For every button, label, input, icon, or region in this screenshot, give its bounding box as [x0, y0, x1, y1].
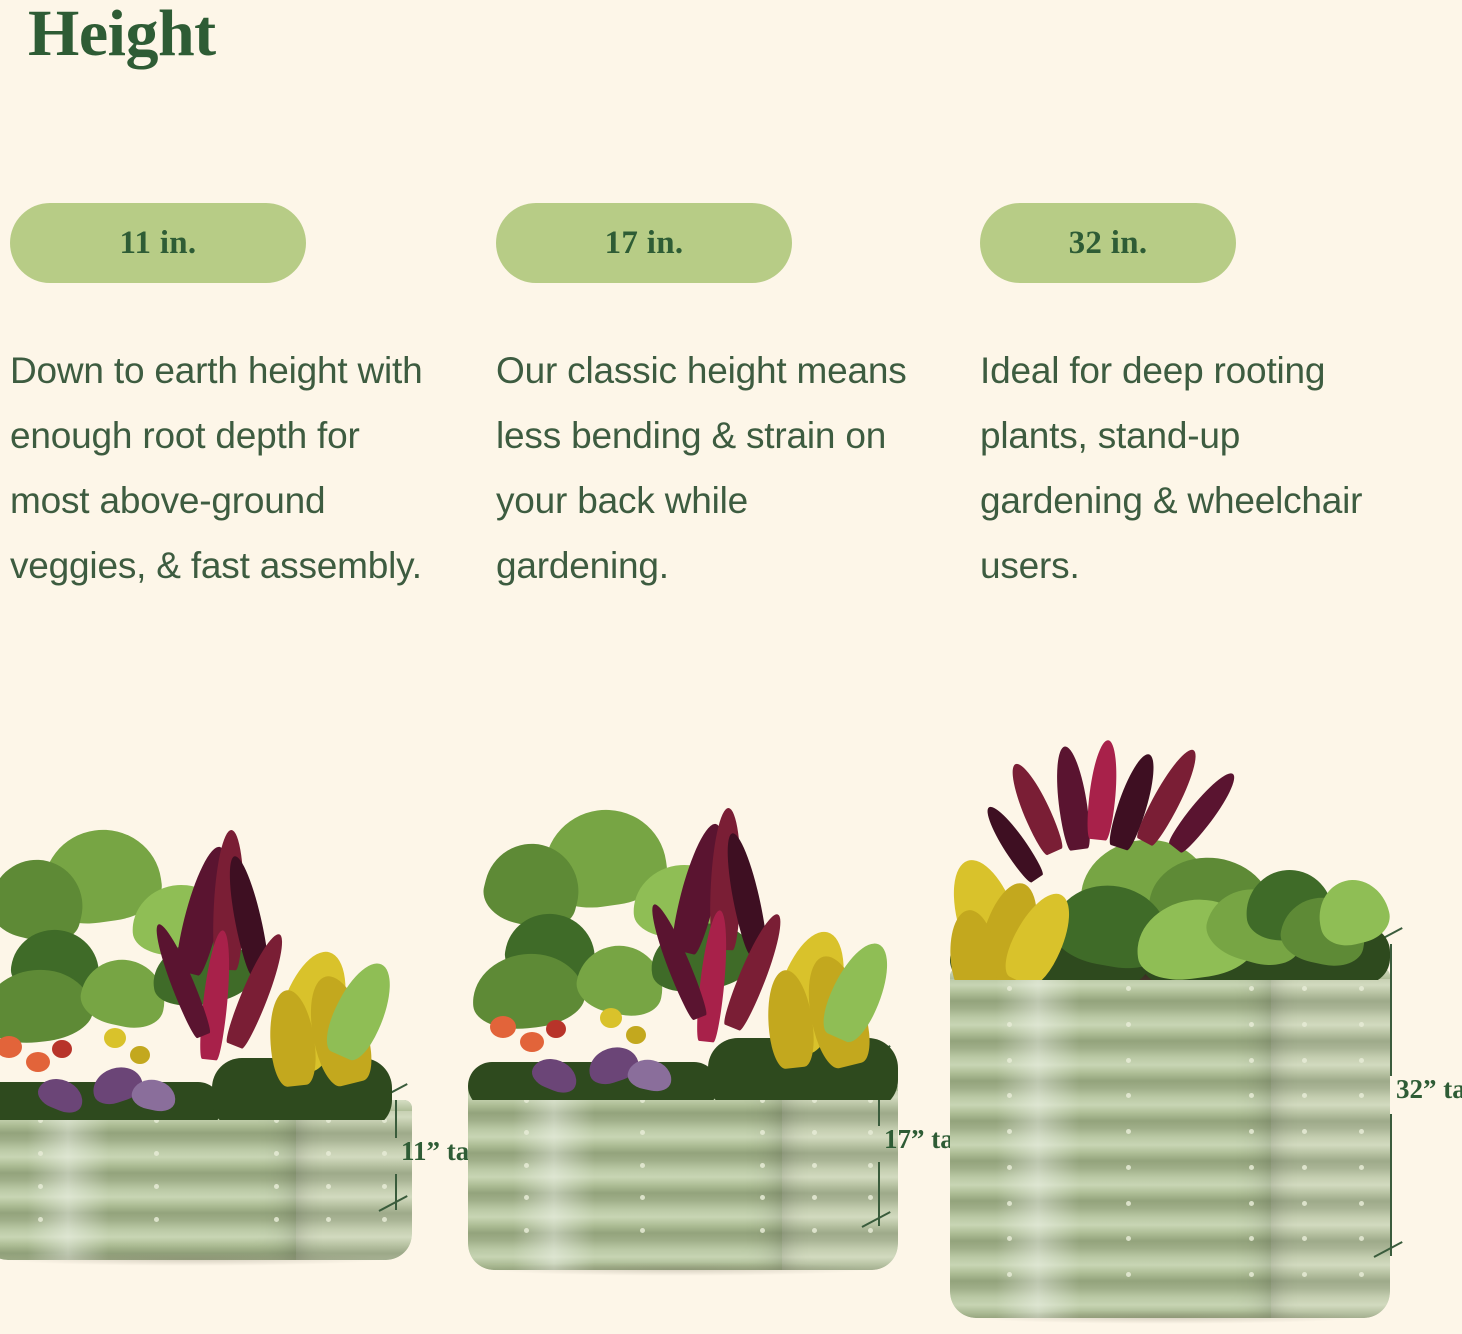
rivet-icon: [1249, 1022, 1254, 1027]
rivet-icon: [326, 1217, 331, 1222]
rivet-icon: [1126, 986, 1131, 991]
leaf-shape: [490, 1016, 516, 1038]
rivet-icon: [1302, 1165, 1307, 1170]
rivet-icon: [640, 1163, 645, 1168]
plant-cluster-11in: [0, 800, 412, 1120]
rivet-icon: [382, 1184, 387, 1189]
garden-bed-image-11in: [0, 800, 412, 1270]
rivet-icon: [1126, 1058, 1131, 1063]
height-description-17in: Our classic height means less bending & …: [496, 338, 916, 598]
rivet-icon: [1007, 1201, 1012, 1206]
dimension-line-lower: [395, 1174, 397, 1210]
planter-body-17in: [468, 1080, 898, 1270]
rivet-icon: [38, 1151, 43, 1156]
bed-shadow-11in: [0, 1252, 386, 1266]
height-comparison-page: Height 11 in. Down to earth height with …: [0, 0, 1462, 1334]
rivet-icon: [38, 1184, 43, 1189]
dimension-line-upper: [395, 1100, 397, 1138]
dimension-line-upper: [1390, 944, 1392, 1076]
height-badge-32in[interactable]: 32 in.: [980, 203, 1236, 283]
rivet-icon: [640, 1228, 645, 1233]
rivet-icon: [1302, 1022, 1307, 1027]
planter-front-face: [950, 968, 1276, 1318]
leaf-shape: [52, 1040, 72, 1058]
planter-body-11in: [0, 1100, 412, 1260]
rivet-icon: [812, 1163, 817, 1168]
height-description-11in: Down to earth height with enough root de…: [10, 338, 430, 598]
rivet-icon: [1302, 1201, 1307, 1206]
rivet-icon: [1126, 1201, 1131, 1206]
leaf-shape: [546, 1020, 566, 1038]
rivet-icon: [38, 1217, 43, 1222]
rivet-icon: [154, 1151, 159, 1156]
leaf-shape: [626, 1026, 646, 1044]
rivet-icon: [1359, 1022, 1364, 1027]
rivet-icon: [326, 1151, 331, 1156]
rivet-icon: [154, 1217, 159, 1222]
rivet-icon: [1249, 1058, 1254, 1063]
rivet-icon: [1126, 1022, 1131, 1027]
rivet-icon: [326, 1184, 331, 1189]
leaf-shape: [520, 1032, 544, 1052]
dimension-line-lower: [1390, 1114, 1392, 1256]
bed-shadow-32in: [968, 1310, 1364, 1324]
dimension-label-32in: 32” tall: [1396, 1074, 1462, 1105]
rivet-icon: [1126, 1165, 1131, 1170]
rivet-icon: [868, 1228, 873, 1233]
rivet-icon: [1302, 1058, 1307, 1063]
garden-bed-image-32in: [950, 740, 1390, 1330]
rivet-icon: [524, 1163, 529, 1168]
planter-body-32in: [950, 968, 1390, 1318]
rivet-icon: [1359, 1201, 1364, 1206]
leaf-shape: [130, 1046, 150, 1064]
rivet-icon: [524, 1228, 529, 1233]
rivet-icon: [868, 1163, 873, 1168]
height-description-32in: Ideal for deep rooting plants, stand-up …: [980, 338, 1380, 598]
rivet-icon: [382, 1217, 387, 1222]
leaf-shape: [104, 1028, 126, 1048]
planter-side-face: [782, 1080, 898, 1270]
rivet-icon: [154, 1184, 159, 1189]
rivet-icon: [1302, 986, 1307, 991]
planter-side-face: [1271, 968, 1390, 1318]
rivet-icon: [382, 1151, 387, 1156]
rivet-icon: [1007, 1022, 1012, 1027]
leaf-shape: [600, 1008, 622, 1028]
garden-bed-image-17in: [468, 770, 898, 1270]
rivet-icon: [812, 1228, 817, 1233]
rivet-icon: [1249, 1201, 1254, 1206]
height-badge-17in[interactable]: 17 in.: [496, 203, 792, 283]
planter-front-face: [0, 1100, 300, 1260]
plant-cluster-32in: [950, 740, 1390, 980]
rivet-icon: [1007, 1058, 1012, 1063]
rivet-icon: [1359, 1058, 1364, 1063]
height-badge-11in[interactable]: 11 in.: [10, 203, 306, 283]
leaf-shape: [0, 1036, 22, 1058]
bed-shadow-17in: [485, 1262, 872, 1276]
plant-cluster-17in: [468, 770, 898, 1100]
planter-front-face: [468, 1080, 786, 1270]
leaf-shape: [26, 1052, 50, 1072]
